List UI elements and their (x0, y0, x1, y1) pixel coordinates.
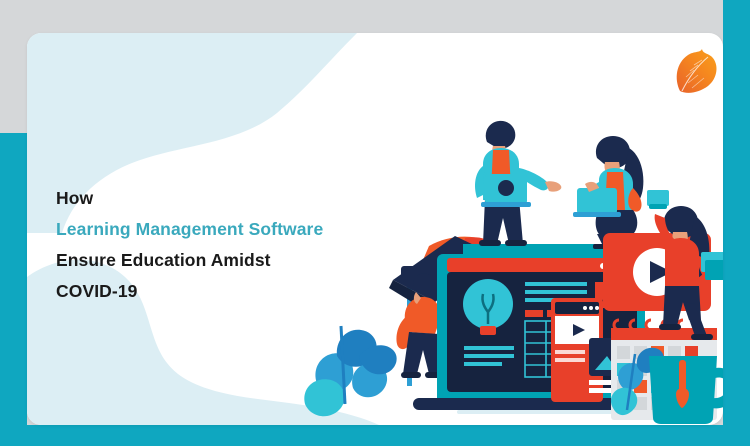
content-card: How Learning Management Software Ensure … (27, 33, 723, 425)
coffee-mug (649, 356, 723, 424)
headline-block: How Learning Management Software Ensure … (56, 183, 386, 307)
background-teal-left-band (0, 133, 27, 446)
woman-with-laptop-sitting (573, 136, 643, 249)
foliage-leaves (304, 326, 396, 416)
background-teal-bottom-band (0, 425, 750, 446)
man-with-laptop-standing (475, 121, 561, 246)
background-teal-right-band (723, 0, 750, 446)
orange-leaf-logo[interactable] (672, 45, 720, 97)
headline-line-3: Ensure Education Amidst (56, 245, 386, 276)
poster-canvas: How Learning Management Software Ensure … (0, 0, 750, 446)
headline-line-1: How (56, 183, 386, 214)
headline-line-2: Learning Management Software (56, 214, 386, 245)
headline-line-4: COVID-19 (56, 276, 386, 307)
